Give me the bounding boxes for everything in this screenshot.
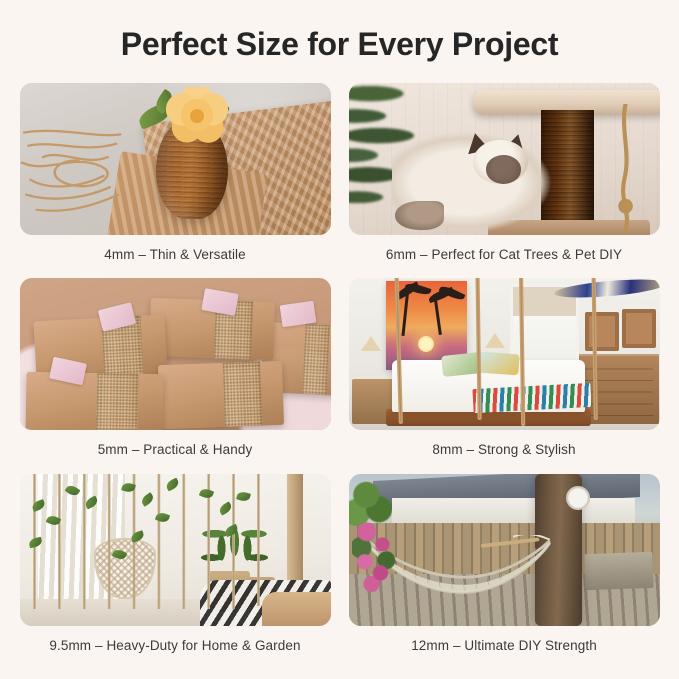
caption-4mm: 4mm – Thin & Versatile <box>104 246 246 264</box>
photo-rope-divider <box>20 474 331 626</box>
caption-8mm: 8mm – Strong & Stylish <box>432 441 575 459</box>
photo-hanging-bed <box>349 278 660 430</box>
grid-item-9-5mm: 9.5mm – Heavy-Duty for Home & Garden <box>20 474 331 658</box>
rope-divider-strands <box>20 474 331 626</box>
grid-item-5mm: 5mm – Practical & Handy <box>20 278 331 462</box>
photo-rope-hammock <box>349 474 660 626</box>
twine-coil <box>20 125 166 219</box>
photo-cat-scratching-post <box>349 83 660 235</box>
caption-6mm: 6mm – Perfect for Cat Trees & Pet DIY <box>386 246 622 264</box>
orange-flower <box>166 87 228 143</box>
grid-item-6mm: 6mm – Perfect for Cat Trees & Pet DIY <box>349 83 660 267</box>
flowering-shrub <box>352 516 402 595</box>
cat-tail <box>395 201 444 229</box>
hanging-rope-toy <box>610 104 641 232</box>
photo-jute-vase <box>20 83 331 235</box>
gift-tag <box>279 300 316 327</box>
grid-item-12mm: 12mm – Ultimate DIY Strength <box>349 474 660 658</box>
product-size-infographic: Perfect Size for Every Project <box>0 0 679 679</box>
caption-9-5mm: 9.5mm – Heavy-Duty for Home & Garden <box>49 637 300 655</box>
suspension-ropes <box>349 278 660 430</box>
caption-12mm: 12mm – Ultimate DIY Strength <box>411 637 597 655</box>
page-title: Perfect Size for Every Project <box>121 26 558 63</box>
grid-item-8mm: 8mm – Strong & Stylish <box>349 278 660 462</box>
cat-body <box>392 122 554 231</box>
caption-5mm: 5mm – Practical & Handy <box>98 441 253 459</box>
gift-box <box>158 361 285 429</box>
cat-face <box>486 155 522 183</box>
size-grid: 4mm – Thin & Versatile <box>20 83 660 658</box>
photo-gift-boxes <box>20 278 331 430</box>
grid-item-4mm: 4mm – Thin & Versatile <box>20 83 331 267</box>
gift-box <box>25 371 163 430</box>
deck-bench <box>584 552 654 591</box>
